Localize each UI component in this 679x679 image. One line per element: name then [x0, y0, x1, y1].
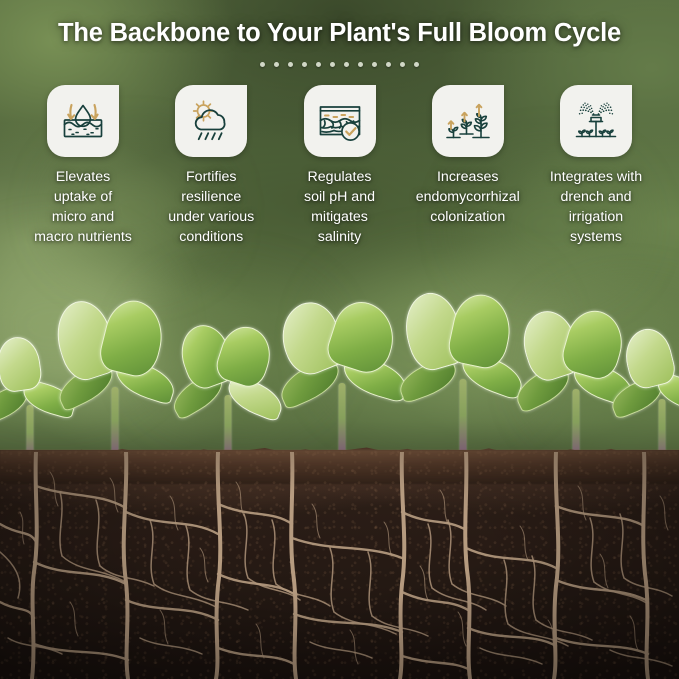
feature-icon-tile — [175, 85, 247, 157]
feature-label: Integrates with drench and irrigation sy… — [550, 167, 642, 248]
feature-stress-resilience: Fortifies resilience under various condi… — [150, 85, 272, 248]
feature-icon-tile — [304, 85, 376, 157]
divider-dot — [386, 62, 391, 67]
divider-dot — [330, 62, 335, 67]
soil-layers-checkmark-icon — [315, 96, 365, 146]
feature-mycorrhizal: Increases endomycorrhizal colonization — [407, 85, 529, 227]
dot-divider — [260, 62, 419, 67]
growing-plants-arrows-icon — [443, 96, 493, 146]
page-title: The Backbone to Your Plant's Full Bloom … — [0, 18, 679, 49]
content-overlay: The Backbone to Your Plant's Full Bloom … — [0, 0, 679, 247]
feature-icon-tile — [560, 85, 632, 157]
feature-label: Regulates soil pH and mitigates salinity — [304, 167, 375, 248]
divider-dot — [316, 62, 321, 67]
feature-label: Elevates uptake of micro and macro nutri… — [34, 167, 132, 248]
divider-dot — [274, 62, 279, 67]
divider-dot — [288, 62, 293, 67]
feature-label: Increases endomycorrhizal colonization — [416, 167, 520, 227]
sprinkler-irrigation-icon — [571, 96, 621, 146]
divider-dot — [400, 62, 405, 67]
water-drop-soil-absorption-icon — [58, 96, 108, 146]
divider-dot — [302, 62, 307, 67]
sun-cloud-rain-icon — [186, 96, 236, 146]
divider-dot — [260, 62, 265, 67]
divider-dot — [358, 62, 363, 67]
feature-ph-salinity: Regulates soil pH and mitigates salinity — [279, 85, 401, 248]
feature-icon-tile — [47, 85, 119, 157]
divider-dot — [414, 62, 419, 67]
feature-application: Integrates with drench and irrigation sy… — [535, 85, 657, 248]
soil-vignette — [0, 450, 679, 679]
divider-dot — [344, 62, 349, 67]
feature-list: Elevates uptake of micro and macro nutri… — [0, 85, 679, 248]
feature-label: Fortifies resilience under various condi… — [168, 167, 254, 248]
feature-nutrient-uptake: Elevates uptake of micro and macro nutri… — [22, 85, 144, 248]
infographic-canvas: The Backbone to Your Plant's Full Bloom … — [0, 0, 679, 679]
divider-dot — [372, 62, 377, 67]
feature-icon-tile — [432, 85, 504, 157]
